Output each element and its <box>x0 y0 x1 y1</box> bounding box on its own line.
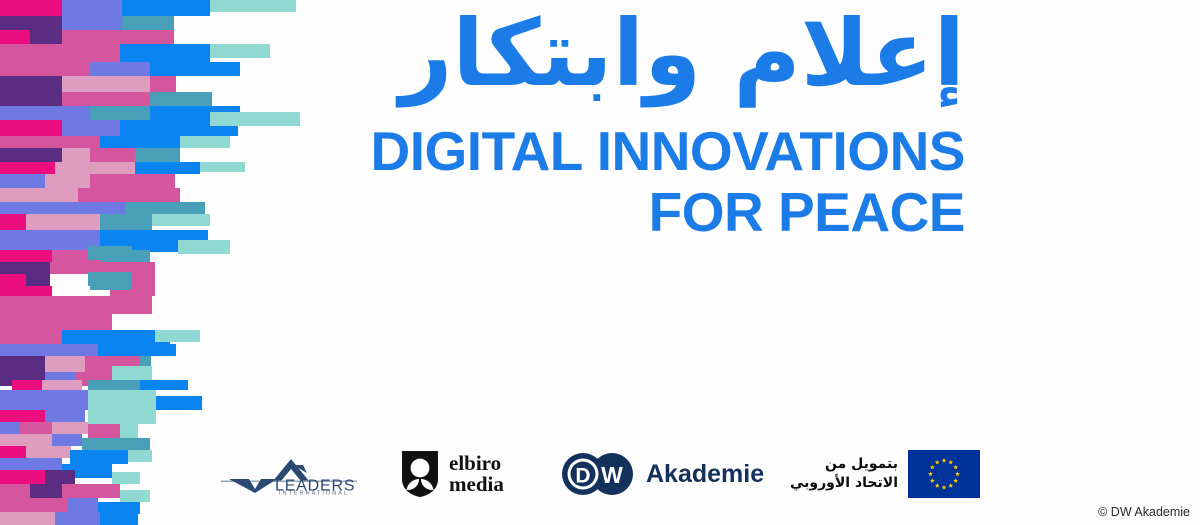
arabic-title: إعلام وابتكار <box>300 0 965 103</box>
mosaic-bar <box>45 356 85 372</box>
mosaic-bar <box>0 422 20 434</box>
english-title: DIGITAL INNOVATIONS FOR PEACE <box>300 103 965 244</box>
mosaic-bar <box>0 410 45 422</box>
dw-circles-icon: D W <box>560 451 636 497</box>
elbiro-wordmark-line-1: elbiro <box>449 453 504 474</box>
mosaic-bar <box>80 202 125 214</box>
mosaic-bar <box>122 0 210 16</box>
mosaic-bar <box>0 470 45 484</box>
mosaic-bar <box>178 240 230 254</box>
mosaic-bar <box>20 422 52 434</box>
mosaic-bar <box>0 484 30 498</box>
mosaic-bar <box>0 162 55 174</box>
mosaic-bar <box>120 44 210 62</box>
mosaic-bar <box>68 498 98 512</box>
logo-elbiro-media: elbiro media <box>400 443 560 505</box>
mosaic-bar <box>30 484 62 498</box>
leaders-international-logo-icon: LEADERS INTERNATIONAL <box>215 453 363 495</box>
mosaic-bar <box>0 512 55 525</box>
mosaic-bar <box>62 0 122 16</box>
mosaic-bar <box>45 470 75 484</box>
mosaic-bar <box>52 434 82 446</box>
mosaic-bar <box>112 472 140 484</box>
mosaic-bar <box>62 30 120 44</box>
mosaic-bar <box>68 344 98 356</box>
mosaic-bar <box>0 274 26 286</box>
mosaic-bar <box>0 446 26 458</box>
svg-text:INTERNATIONAL: INTERNATIONAL <box>279 490 349 495</box>
mosaic-bar <box>200 162 245 172</box>
mosaic-bar <box>90 76 150 92</box>
mosaic-bar <box>0 356 45 372</box>
mosaic-bar <box>42 380 82 390</box>
mosaic-bar <box>120 30 174 44</box>
mosaic-bar <box>88 380 140 390</box>
mosaic-bar <box>88 246 132 260</box>
mosaic-bar <box>62 390 88 410</box>
mosaic-bar <box>62 76 90 92</box>
mosaic-bar <box>90 276 132 290</box>
mosaic-bar <box>90 174 175 188</box>
elbiro-media-logo: elbiro media <box>400 449 504 499</box>
mosaic-bar <box>0 92 62 106</box>
mosaic-bar <box>62 92 150 106</box>
mosaic-bar <box>152 214 210 226</box>
mosaic-bar <box>135 148 180 162</box>
mosaic-bar <box>0 30 30 44</box>
mosaic-bar <box>62 330 90 344</box>
mosaic-bar <box>120 490 150 502</box>
mosaic-bar <box>0 62 90 76</box>
mosaic-bar <box>55 162 135 174</box>
mosaic-bar <box>0 314 86 330</box>
elbiro-wordmark: elbiro media <box>449 453 504 494</box>
mosaic-bar <box>98 344 176 356</box>
eu-funding-arabic-text: بتمويل من الاتحاد الأوروبي <box>790 455 898 493</box>
mosaic-bar <box>0 106 62 120</box>
headline-block: إعلام وابتكار DIGITAL INNOVATIONS FOR PE… <box>300 0 980 330</box>
mosaic-bar <box>128 450 152 462</box>
elbiro-shield-icon <box>400 449 440 499</box>
mosaic-bar <box>0 44 120 62</box>
mosaic-bar <box>120 424 138 438</box>
dw-akademie-logo: D W Akademie <box>560 451 764 497</box>
mosaic-bar <box>88 424 120 438</box>
mosaic-bar <box>26 274 50 286</box>
eu-funding-logo: بتمويل من الاتحاد الأوروبي <box>790 450 980 498</box>
mosaic-bar <box>210 112 300 126</box>
eu-funding-line-1: بتمويل من <box>790 455 898 474</box>
mosaic-bar <box>0 76 62 92</box>
mosaic-bar <box>0 148 62 162</box>
logo-leaders-international: LEADERS INTERNATIONAL <box>215 443 400 505</box>
eu-funding-line-2: الاتحاد الأوروبي <box>790 474 898 493</box>
mosaic-bar <box>90 148 135 162</box>
mosaic-bar <box>0 250 52 262</box>
mosaic-bar <box>82 438 120 450</box>
mosaic-bar <box>125 202 205 214</box>
mosaic-bar <box>156 396 202 410</box>
mosaic-bar <box>150 62 240 76</box>
mosaic-bar <box>210 44 270 58</box>
mosaic-bar <box>45 410 85 422</box>
mosaic-bar <box>52 422 88 434</box>
mosaic-bar <box>0 136 100 148</box>
mosaic-bar <box>150 92 212 106</box>
mosaic-bar <box>26 214 100 230</box>
logo-eu-funding: بتمويل من الاتحاد الأوروبي <box>790 443 990 505</box>
mosaic-bar <box>0 434 52 446</box>
mosaic-bar <box>88 390 156 424</box>
mosaic-bar <box>100 512 138 525</box>
mosaic-bar <box>62 148 90 162</box>
mosaic-bar <box>122 16 174 30</box>
elbiro-wordmark-line-2: media <box>449 474 504 495</box>
english-title-line-2: FOR PEACE <box>300 182 965 244</box>
partner-logo-strip: LEADERS INTERNATIONAL elbiro media <box>215 443 990 505</box>
european-union-flag-icon <box>908 450 980 498</box>
mosaic-bar <box>12 380 42 390</box>
svg-text:D: D <box>575 465 590 488</box>
mosaic-bar <box>0 330 62 344</box>
mosaic-bar <box>62 484 120 498</box>
mosaic-bar <box>70 450 128 464</box>
mosaic-bar <box>45 174 90 188</box>
mosaic-bar <box>62 16 122 30</box>
mosaic-bar <box>150 76 176 92</box>
mosaic-bar <box>0 344 68 356</box>
mosaic-bar <box>180 136 230 148</box>
mosaic-bar <box>0 120 62 136</box>
mosaic-bar <box>0 214 26 230</box>
mosaic-bar <box>0 0 62 16</box>
mosaic-bar <box>62 106 90 120</box>
mosaic-bar <box>0 16 62 30</box>
banner-root: إعلام وابتكار DIGITAL INNOVATIONS FOR PE… <box>0 0 1200 525</box>
mosaic-bar <box>0 202 80 214</box>
mosaic-bar <box>128 188 180 202</box>
mosaic-bar <box>0 230 100 250</box>
mosaic-bar <box>30 30 62 44</box>
mosaic-bar <box>100 214 152 230</box>
mosaic-bar <box>0 390 62 410</box>
mosaic-bar <box>78 188 128 202</box>
dw-akademie-wordmark: Akademie <box>646 460 764 489</box>
svg-text:W: W <box>601 462 623 488</box>
mosaic-bar <box>62 120 120 136</box>
mosaic-bar <box>0 296 90 314</box>
mosaic-bar <box>135 162 200 174</box>
image-credit: © DW Akademie <box>1098 505 1190 519</box>
mosaic-bar <box>86 314 112 330</box>
mosaic-bar <box>90 106 150 120</box>
mosaic-bar <box>140 380 188 390</box>
mosaic-bar <box>0 498 68 512</box>
english-title-line-1: DIGITAL INNOVATIONS <box>300 121 965 183</box>
mosaic-bar <box>210 0 296 12</box>
mosaic-bar <box>90 62 150 76</box>
mosaic-bar <box>90 296 152 314</box>
mosaic-bar <box>55 512 100 525</box>
mosaic-bar <box>26 446 71 458</box>
mosaic-bar <box>0 188 78 202</box>
mosaic-bar <box>120 438 150 450</box>
logo-dw-akademie: D W Akademie <box>560 443 790 505</box>
mosaic-bar <box>155 330 200 342</box>
mosaic-bar <box>100 136 180 148</box>
mosaic-bar <box>0 174 45 188</box>
